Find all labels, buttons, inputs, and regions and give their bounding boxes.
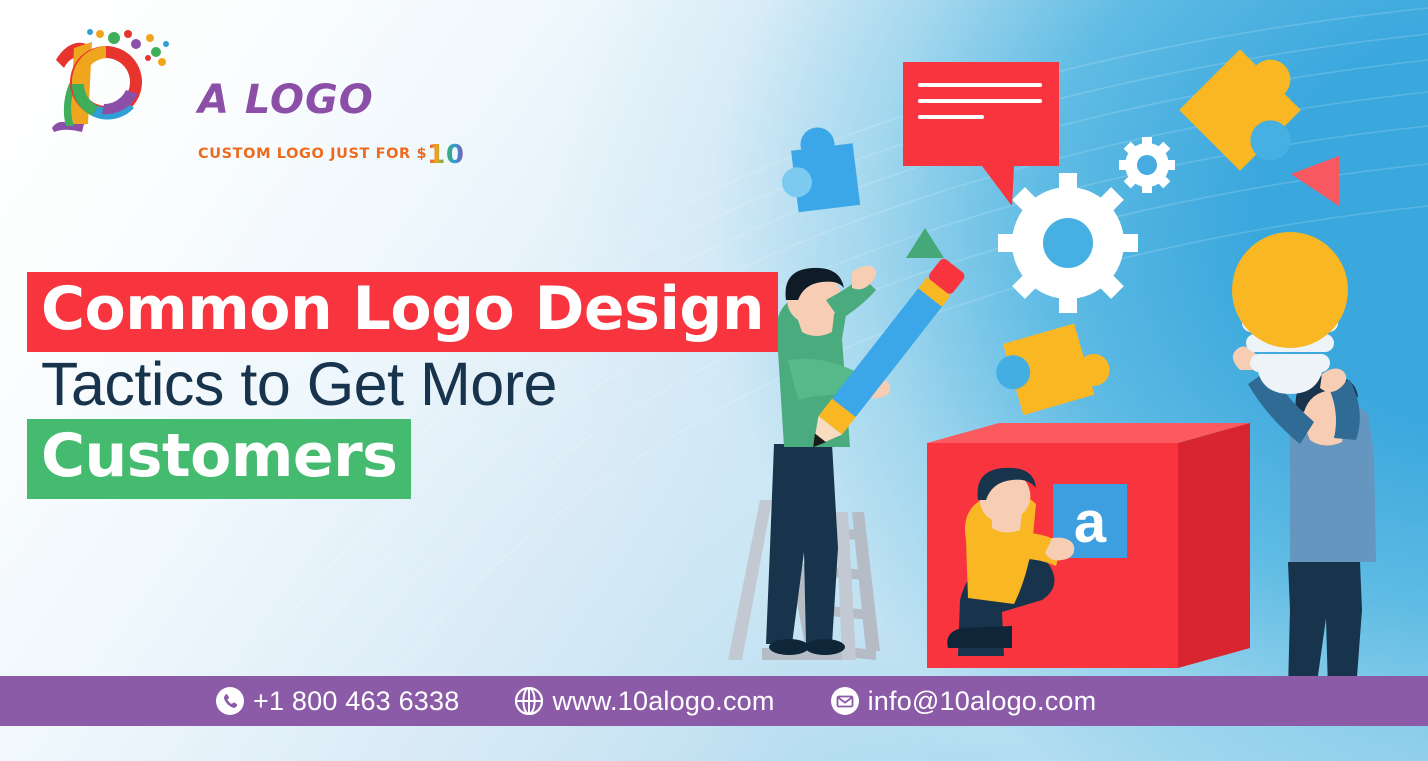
footer-website-text: www.10alogo.com	[552, 686, 774, 717]
headline-row-2: Tactics to Get More	[27, 350, 778, 421]
gear-small-icon	[1119, 137, 1175, 193]
gear-large-icon	[998, 173, 1138, 313]
footer-website[interactable]: www.10alogo.com	[515, 686, 774, 717]
logo-tagline-amount: 10	[427, 140, 464, 170]
triangle-red-icon	[1291, 156, 1339, 206]
contact-footer-bar: +1 800 463 6338 www.10alogo.com info@10a…	[0, 676, 1428, 726]
headline-line-1: Common Logo Design	[27, 272, 778, 352]
footer-email[interactable]: info@10alogo.com	[831, 686, 1097, 717]
triangle-green-icon	[906, 228, 944, 258]
envelope-icon	[831, 687, 859, 715]
globe-icon	[515, 687, 543, 715]
footer-phone-text: +1 800 463 6338	[253, 686, 459, 717]
footer-email-text: info@10alogo.com	[868, 686, 1097, 717]
logo-tagline-text: CUSTOM LOGO JUST FOR $	[198, 146, 427, 162]
promo-banner: a	[0, 0, 1428, 761]
phone-icon	[216, 687, 244, 715]
headline-block: Common Logo Design Tactics to Get More C…	[27, 272, 778, 499]
puzzle-piece-yellow-top-icon	[1179, 35, 1329, 185]
svg-text:a: a	[1074, 490, 1107, 555]
logo-tagline: CUSTOM LOGO JUST FOR $10	[198, 142, 465, 168]
person-with-lightbulb	[1232, 232, 1376, 690]
puzzle-piece-yellow-mid-icon	[989, 317, 1116, 419]
speech-bubble-icon	[903, 62, 1059, 206]
puzzle-piece-blue-icon	[776, 123, 860, 214]
brand-logo[interactable]: A LOGO CUSTOM LOGO JUST FOR $10	[30, 28, 390, 153]
headline-line-2: Tactics to Get More	[27, 350, 571, 421]
headline-row-1: Common Logo Design	[27, 272, 778, 352]
footer-phone[interactable]: +1 800 463 6338	[216, 686, 459, 717]
headline-line-3: Customers	[27, 419, 411, 499]
logo-mark-icon	[30, 28, 190, 136]
logo-wordmark: A LOGO	[198, 80, 374, 120]
headline-row-3: Customers	[27, 419, 778, 499]
